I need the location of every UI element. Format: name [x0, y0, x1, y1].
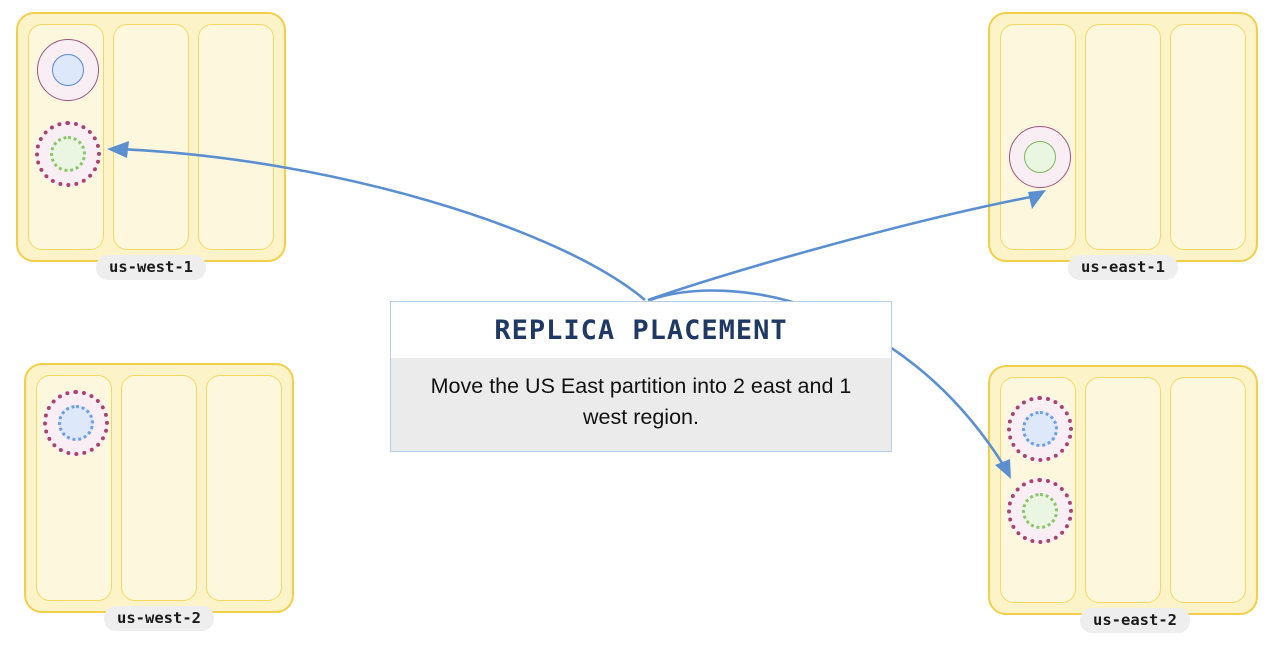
region-slot — [206, 375, 282, 601]
callout-body: Move the US East partition into 2 east a… — [391, 358, 891, 451]
region-slot — [1085, 377, 1161, 603]
region-slot — [28, 24, 104, 250]
arrow-to-us-east-1 — [648, 190, 1046, 300]
replica-inner-green — [1024, 141, 1056, 173]
replica-token-dotted-blue[interactable] — [43, 390, 109, 456]
callout-title: REPLICA PLACEMENT — [391, 302, 891, 358]
region-slot — [113, 24, 189, 250]
replica-inner-green — [1022, 493, 1058, 529]
diagram-canvas: us-west-1 us-east-1 us-west-2 — [0, 0, 1280, 647]
region-label-us-east-1: us-east-1 — [1068, 255, 1178, 280]
region-slot — [1000, 24, 1076, 250]
replica-token-solid-blue[interactable] — [37, 39, 99, 101]
region-slot — [1000, 377, 1076, 603]
region-label-us-west-2: us-west-2 — [104, 606, 214, 631]
region-slot — [198, 24, 274, 250]
replica-token-dotted-green[interactable] — [1007, 478, 1073, 544]
region-label-us-east-2: us-east-2 — [1080, 608, 1190, 633]
replica-inner-green — [50, 136, 86, 172]
region-us-east-2[interactable] — [988, 365, 1258, 615]
region-slot — [1085, 24, 1161, 250]
replica-token-dotted-green[interactable] — [35, 121, 101, 187]
replica-inner-blue — [58, 405, 94, 441]
region-slot — [36, 375, 112, 601]
replica-inner-blue — [1022, 411, 1058, 447]
callout-box: REPLICA PLACEMENT Move the US East parti… — [390, 301, 892, 452]
region-slot — [1170, 24, 1246, 250]
region-slot — [1170, 377, 1246, 603]
region-us-west-2[interactable] — [24, 363, 294, 613]
replica-token-solid-green[interactable] — [1009, 126, 1071, 188]
region-us-east-1[interactable] — [988, 12, 1258, 262]
region-us-west-1[interactable] — [16, 12, 286, 262]
region-slot — [121, 375, 197, 601]
region-label-us-west-1: us-west-1 — [96, 255, 206, 280]
replica-inner-blue — [52, 54, 84, 86]
replica-token-dotted-blue[interactable] — [1007, 396, 1073, 462]
